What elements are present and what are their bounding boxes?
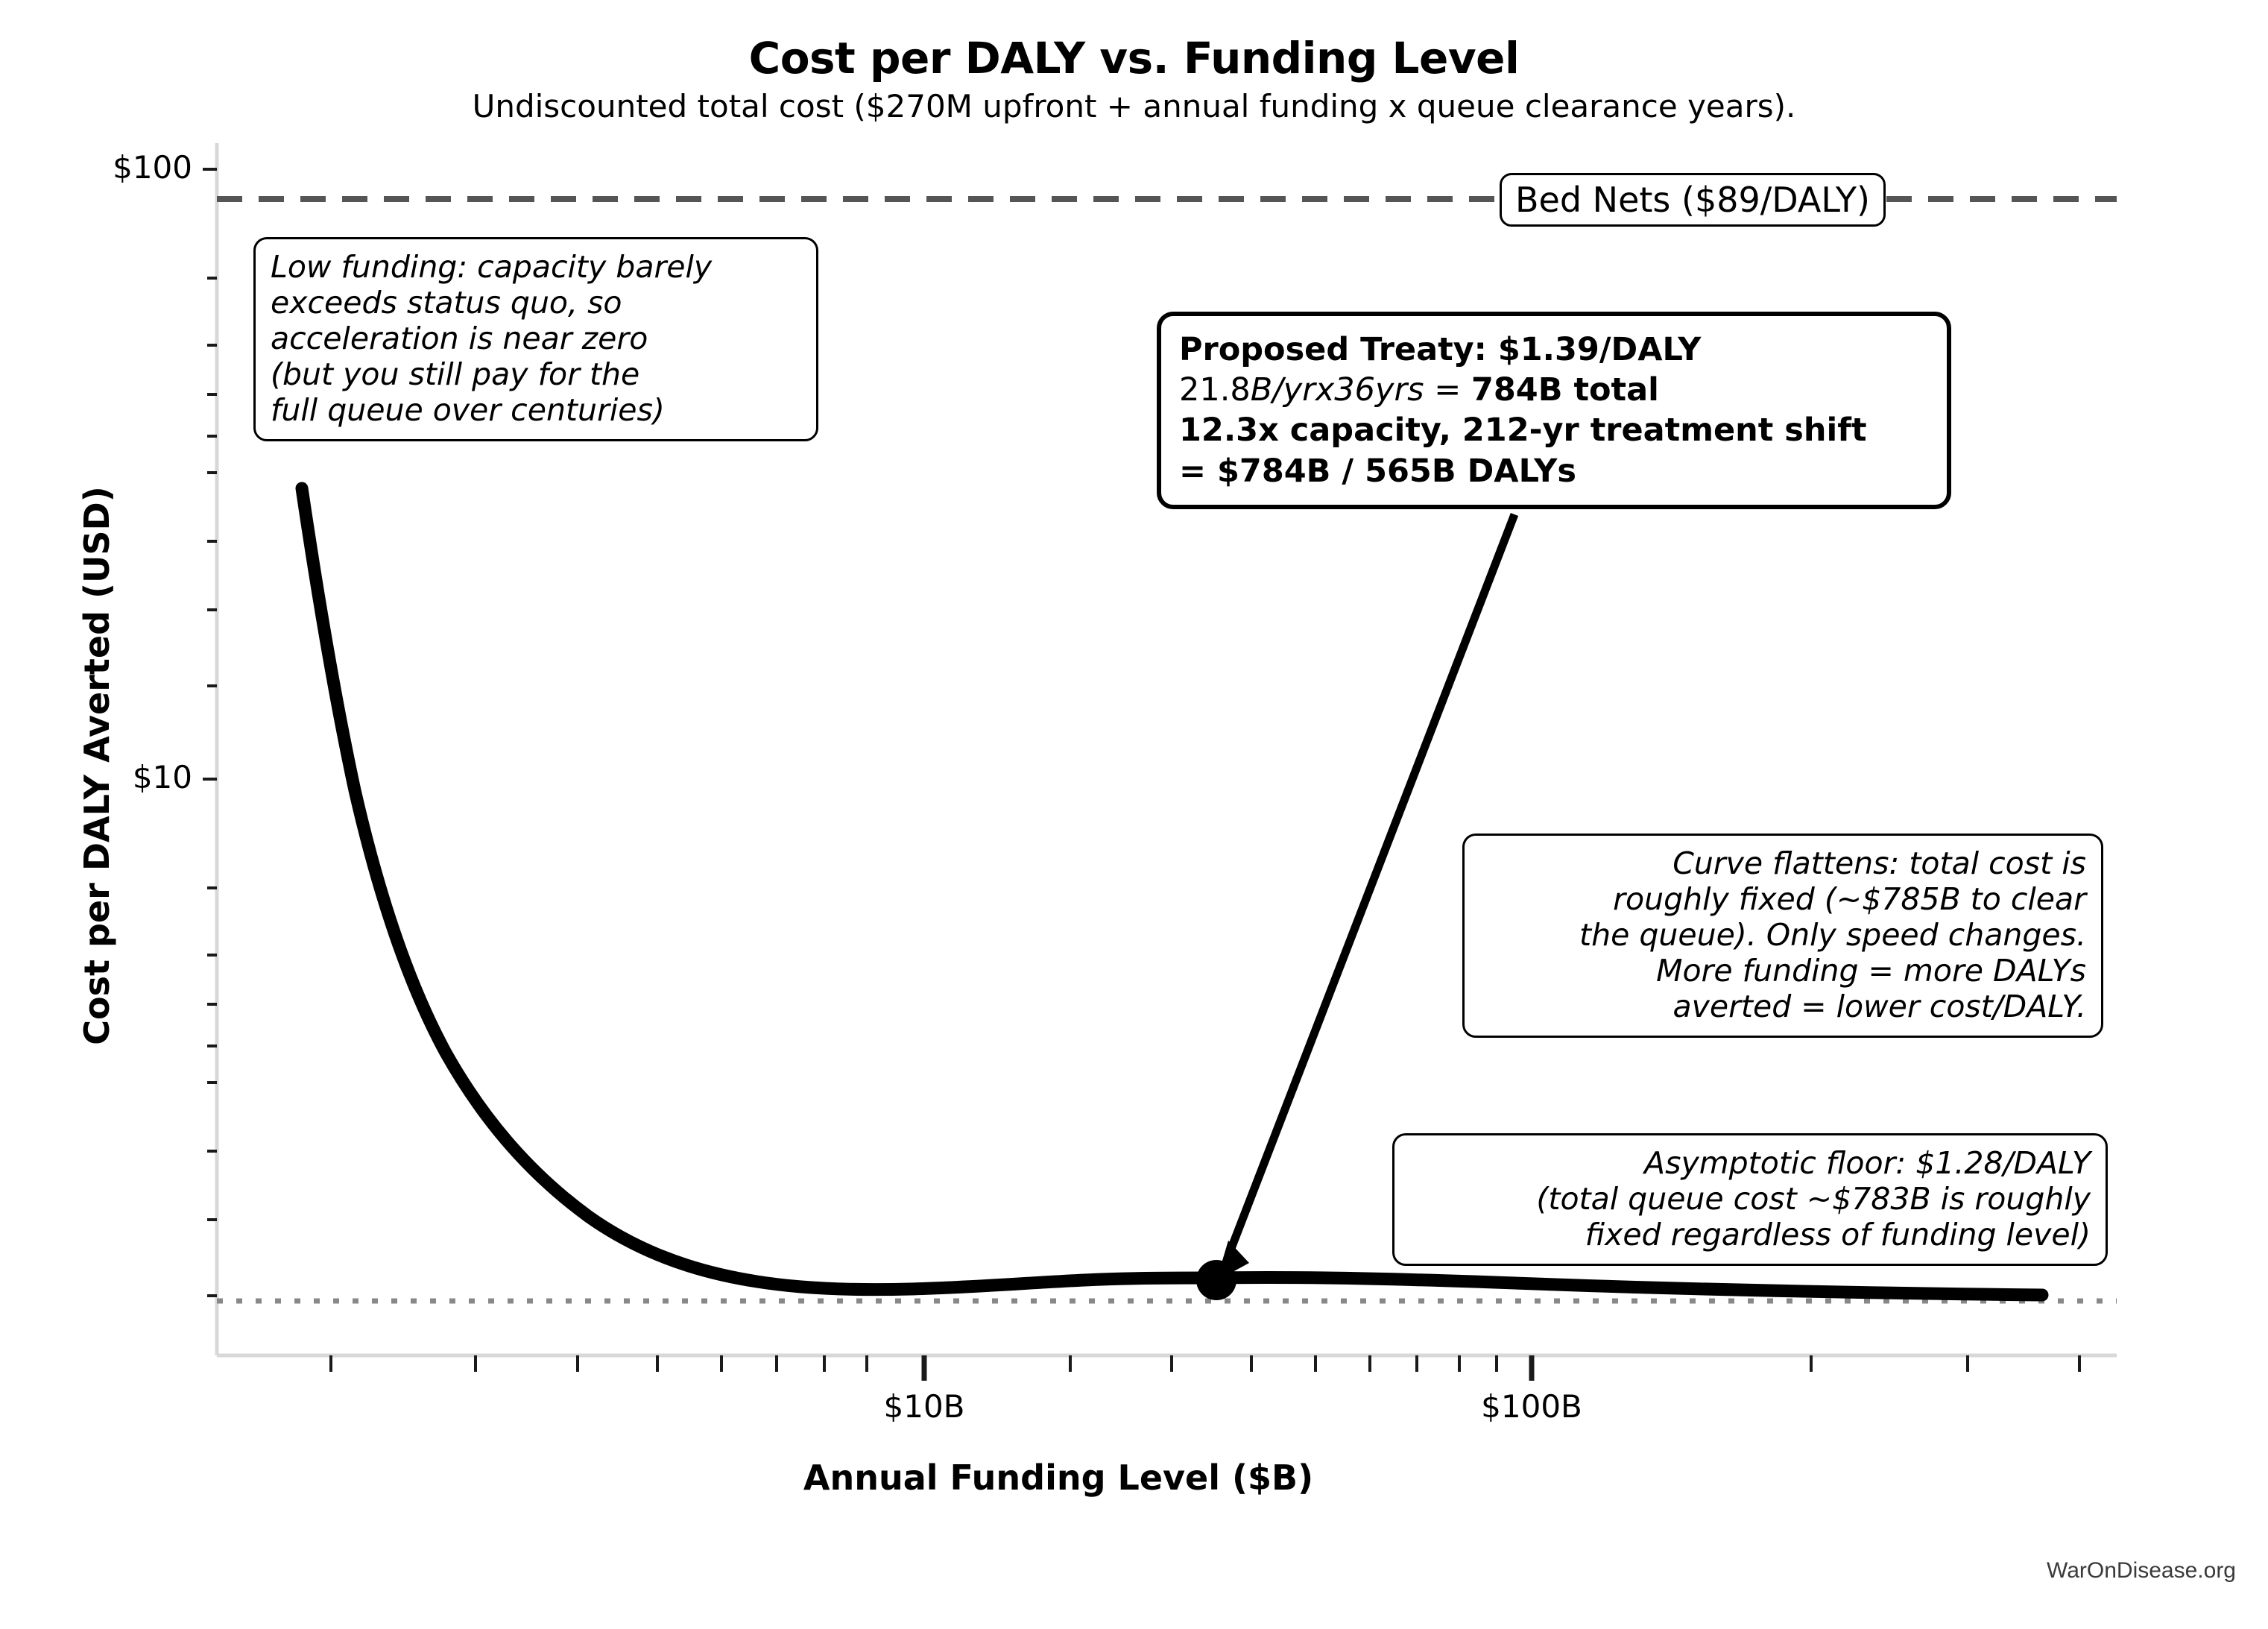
- annotation-line: Asymptotic floor: $1.28/DALY: [1409, 1146, 2091, 1182]
- treaty-line-ratio: = $784B / 565B DALYs: [1179, 451, 1929, 491]
- treaty-data-point-marker[interactable]: [1196, 1260, 1236, 1300]
- treaty-line-math: 21.8B/yrx36yrs = 784B total: [1179, 370, 1929, 410]
- x-tick-label-10b: $10B: [884, 1388, 965, 1425]
- treaty-line-headline: Proposed Treaty: $1.39/DALY: [1179, 330, 1929, 370]
- annotation-line: (total queue cost ~$783B is roughly: [1409, 1182, 2091, 1217]
- annotation-line: exceeds status quo, so: [271, 286, 801, 321]
- x-tick-label-100b: $100B: [1481, 1388, 1582, 1425]
- y-tick-label-100: $100: [113, 149, 192, 186]
- annotation-proposed-treaty: Proposed Treaty: $1.39/DALY 21.8B/yrx36y…: [1157, 312, 1951, 509]
- bed-nets-benchmark-label: Bed Nets ($89/DALY): [1500, 173, 1886, 227]
- annotation-line: full queue over centuries): [271, 393, 801, 429]
- treaty-math-total: 784B total: [1471, 371, 1659, 409]
- x-axis-ticks: [331, 1355, 2079, 1381]
- annotation-line: acceleration is near zero: [271, 321, 801, 357]
- annotation-line: roughly fixed (~$785B to clear: [1479, 882, 2086, 918]
- annotation-line: averted = lower cost/DALY.: [1479, 989, 2086, 1025]
- treaty-math-number: 21.8: [1179, 371, 1251, 409]
- footer-credit: WarOnDisease.org: [1789, 1558, 2236, 1584]
- annotation-line: the queue). Only speed changes.: [1479, 918, 2086, 954]
- treaty-math-equals: =: [1424, 371, 1471, 409]
- annotation-line: Low funding: capacity barely: [271, 250, 801, 286]
- annotation-low-funding: Low funding: capacity barely exceeds sta…: [253, 237, 818, 441]
- x-axis-title: Annual Funding Level ($B): [0, 1458, 2117, 1498]
- annotation-line: Curve flattens: total cost is: [1479, 846, 2086, 882]
- y-tick-label-10: $10: [133, 759, 192, 795]
- annotation-line: fixed regardless of funding level): [1409, 1217, 2091, 1253]
- treaty-line-capacity: 12.3x capacity, 212-yr treatment shift: [1179, 410, 1929, 450]
- annotation-curve-flattens: Curve flattens: total cost is roughly fi…: [1462, 834, 2103, 1038]
- annotation-line: (but you still pay for the: [271, 357, 801, 393]
- annotation-asymptotic-floor: Asymptotic floor: $1.28/DALY (total queu…: [1392, 1133, 2108, 1266]
- treaty-math-units: B/yrx36yrs: [1251, 371, 1424, 409]
- annotation-line: More funding = more DALYs: [1479, 954, 2086, 989]
- y-axis-ticks: [203, 169, 217, 1296]
- y-axis-title: Cost per DALY Averted (USD): [77, 318, 117, 1213]
